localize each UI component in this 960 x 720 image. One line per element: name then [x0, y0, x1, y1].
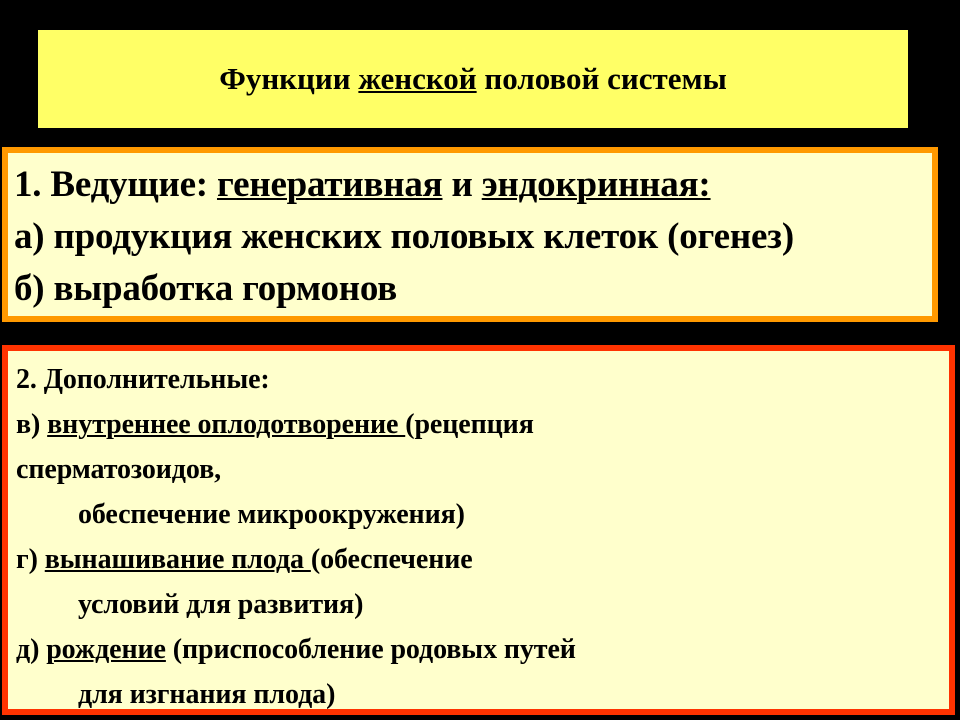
primary-functions-box: 1. Ведущие: генеративная и эндокринная: … — [2, 147, 938, 322]
primary-heading-conjunction: и — [443, 164, 482, 205]
secondary-item-g: г) вынашивание плода (обеспечение — [16, 537, 949, 582]
secondary-item-v-cont-1: сперматозоидов, — [16, 447, 949, 492]
secondary-item-g-marker: г) — [16, 544, 45, 575]
secondary-item-g-cont-1: условий для развития) — [16, 582, 949, 627]
secondary-item-v-rest: (рецепция — [405, 409, 534, 440]
secondary-item-g-emphasis: вынашивание плода — [45, 544, 311, 575]
primary-item-a: а) продукция женских половых клеток (оге… — [14, 211, 932, 263]
secondary-heading: 2. Дополнительные: — [16, 357, 949, 402]
secondary-item-d-emphasis: рождение — [46, 634, 166, 665]
title-suffix: половой системы — [477, 61, 727, 96]
secondary-item-d-rest: (приспособление родовых путей — [166, 634, 576, 665]
secondary-functions-lines: 2. Дополнительные: в) внутреннее оплодот… — [8, 351, 949, 717]
title-prefix: Функции — [219, 61, 358, 96]
primary-functions-lines: 1. Ведущие: генеративная и эндокринная: … — [8, 153, 932, 315]
primary-heading-emphasis-generative: генеративная — [217, 164, 443, 205]
secondary-item-d-marker: д) — [16, 634, 46, 665]
primary-item-b: б) выработка гормонов — [14, 263, 932, 315]
title-box: Функции женской половой системы — [38, 30, 908, 128]
title-emphasis: женской — [358, 61, 476, 96]
slide-canvas: Функции женской половой системы 1. Ведущ… — [0, 0, 960, 720]
primary-heading-number: 1. Ведущие: — [14, 164, 217, 205]
secondary-item-v-marker: в) — [16, 409, 47, 440]
secondary-item-d-cont-1: для изгнания плода) — [16, 672, 949, 717]
secondary-item-d: д) рождение (приспособление родовых путе… — [16, 627, 949, 672]
secondary-functions-box: 2. Дополнительные: в) внутреннее оплодот… — [2, 345, 955, 715]
secondary-item-g-rest: (обеспечение — [311, 544, 473, 575]
secondary-item-v-cont-2: обеспечение микроокружения) — [16, 492, 949, 537]
primary-heading-emphasis-endocrine: эндокринная: — [482, 164, 711, 205]
primary-heading-line: 1. Ведущие: генеративная и эндокринная: — [14, 159, 932, 211]
page-title: Функции женской половой системы — [219, 62, 727, 96]
secondary-item-v-emphasis: внутреннее оплодотворение — [47, 409, 405, 440]
secondary-item-v: в) внутреннее оплодотворение (рецепция — [16, 402, 949, 447]
